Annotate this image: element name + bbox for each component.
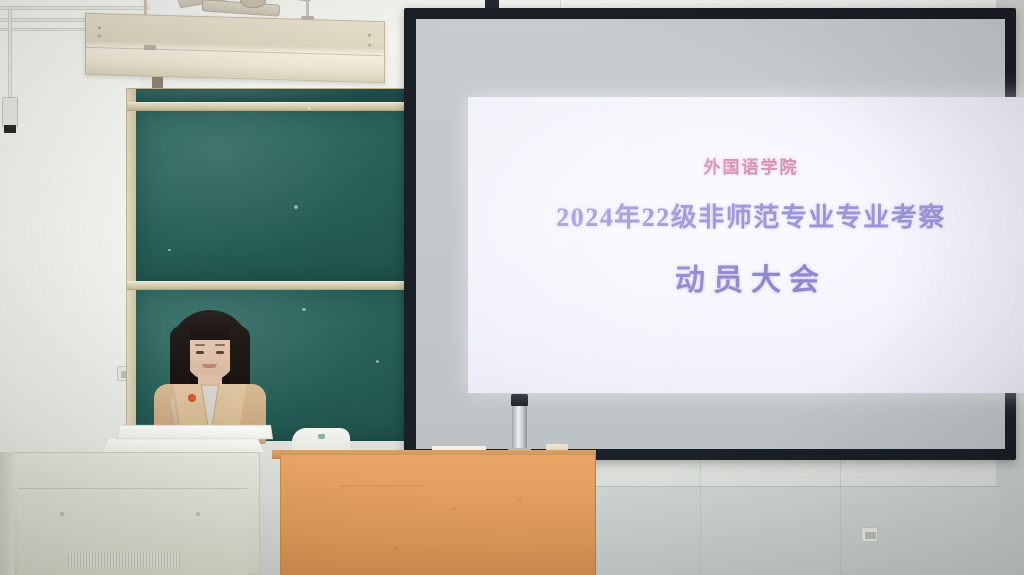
chalk-mark [376, 360, 379, 363]
chalk-mark [294, 205, 298, 209]
presenter-mouth [202, 364, 217, 368]
desk-grain [393, 547, 398, 550]
podium-vent-grille [68, 553, 180, 567]
wall-lower-band [560, 487, 1000, 575]
desk-grain [339, 485, 425, 487]
podium-side-panel [0, 452, 14, 575]
ceiling-conduit-1 [0, 6, 150, 10]
teacher-desk [280, 455, 596, 575]
projected-slide: 外国语学院 2024年22级非师范专业专业考察 动员大会 [468, 97, 1024, 393]
projection-screen: 外国语学院 2024年22级非师范专业专业考察 动员大会 [404, 8, 1016, 460]
thermos-flask [512, 399, 527, 451]
chalkboard-rail-middle [127, 281, 423, 290]
thermos-cap [511, 394, 528, 406]
podium-screw [196, 512, 200, 516]
light-switch-icon[interactable] [2, 97, 18, 127]
chalk-mark [168, 249, 171, 251]
wall-outlet-right-icon[interactable] [861, 527, 878, 542]
chalkboard-pane-main [136, 111, 414, 281]
light-fixture-label [144, 45, 156, 50]
slide-line-department: 外国语学院 [468, 153, 1024, 178]
desk-grain [517, 497, 522, 501]
slide-line-title: 2024年22级非师范专业专业考察 [468, 197, 1024, 234]
slide-line-subtitle: 动员大会 [468, 255, 1024, 299]
podium-screw [60, 512, 64, 516]
ceiling-conduit-drop [8, 8, 12, 102]
chalk-mark [302, 308, 306, 311]
chalkboard-pane-top [136, 89, 414, 102]
podium-desktop [117, 425, 273, 439]
desk-grain [451, 507, 457, 511]
fluorescent-light-icon [85, 13, 385, 83]
chalk-mark [308, 107, 311, 110]
wall-seam-right-2 [840, 460, 841, 575]
presenter-brow [195, 344, 205, 346]
presenter-brow [215, 344, 225, 346]
classroom-photo: 外国语学院 2024年22级非师范专业专业考察 动员大会 [0, 0, 1024, 575]
wall-seam-right [700, 460, 701, 575]
presenter-eye [216, 351, 224, 354]
presenter-eye [196, 351, 204, 354]
chalkboard-frame-left [127, 89, 136, 441]
slide-text-block: 外国语学院 2024年22级非师范专业专业考察 动员大会 [468, 97, 1024, 393]
presenter-lapel-pin [188, 394, 196, 402]
chalkboard-rail-top [127, 102, 423, 111]
chair-marker [318, 434, 325, 439]
presenter [150, 308, 270, 440]
screen-surface: 外国语学院 2024年22级非师范专业专业考察 动员大会 [416, 19, 1005, 449]
